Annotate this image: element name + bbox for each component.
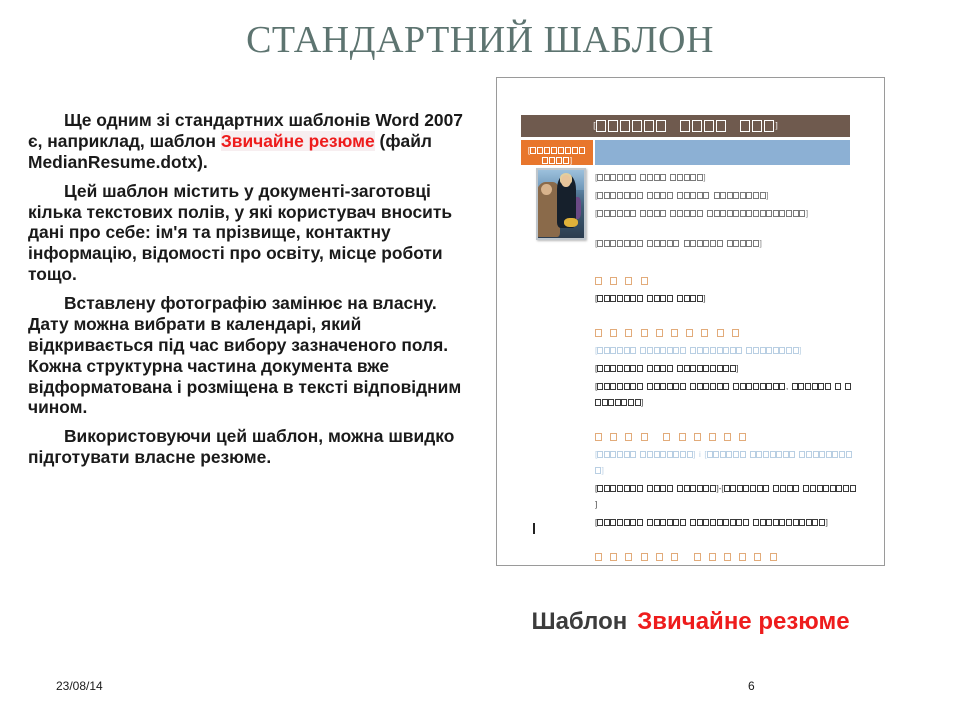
- resume-blue-bar: [595, 140, 850, 165]
- resume-section-3: []і[] []-[] []: [595, 429, 857, 531]
- resume-section-4: []: [595, 549, 857, 566]
- contact-line-2: []: [595, 188, 857, 204]
- resume-sections: [] [] [] [,]: [595, 273, 857, 566]
- document-page: [] [ ]: [497, 78, 884, 565]
- section-2-heading: [595, 325, 857, 341]
- footer-page-number: 6: [748, 679, 755, 693]
- resume-contact-label: [ ]: [521, 140, 593, 165]
- section-1-line-1: []: [595, 291, 857, 307]
- photo-head-secondary: [541, 184, 552, 196]
- paragraph-2: Цей шаблон містить у документі-заготовці…: [28, 181, 476, 285]
- resume-photo: [536, 168, 586, 240]
- photo-yellow-accent: [564, 218, 578, 228]
- body-text-column: Ще одним зі стандартних шаблонів Word 20…: [28, 110, 476, 468]
- resume-contact-details: [] [] [] []: [595, 170, 857, 252]
- resume-photo-image: [538, 170, 584, 238]
- paragraph-1: Ще одним зі стандартних шаблонів Word 20…: [28, 110, 476, 173]
- resume-section-1: []: [595, 273, 857, 307]
- section-gap-3: [595, 537, 857, 549]
- resume-section-2: [] [] [,]: [595, 325, 857, 411]
- resume-contact-label-line-2: ]: [521, 153, 593, 165]
- template-name-highlight: Звичайне резюме: [221, 131, 375, 151]
- section-4-heading: [595, 549, 857, 565]
- caption-label: Шаблон: [531, 608, 627, 635]
- footer-date: 23/08/14: [56, 679, 103, 693]
- caption-template-name: Звичайне резюме: [637, 608, 849, 635]
- paragraph-4: Використовуючи цей шаблон, можна швидко …: [28, 426, 476, 468]
- resume-name-banner: []: [521, 115, 850, 137]
- section-2-subline: []: [595, 343, 857, 359]
- section-3-subline: []і[]: [595, 447, 857, 479]
- section-2-line-1: []: [595, 361, 857, 377]
- page-title: СТАНДАРТНИЙ ШАБЛОН: [0, 18, 960, 62]
- paragraph-3: Вставлену фотографію замінює на власну. …: [28, 293, 476, 418]
- section-3-line-2: []: [595, 515, 857, 531]
- section-2-line-2: [,]: [595, 379, 857, 411]
- contact-line-4: []: [595, 236, 857, 252]
- section-3-heading: [595, 429, 857, 445]
- contact-line-3: []: [595, 206, 857, 222]
- section-1-heading: [595, 273, 857, 289]
- document-preview-frame: [] [ ]: [496, 77, 885, 566]
- section-3-line-1: []-[]: [595, 481, 857, 513]
- contact-line-1: []: [595, 170, 857, 186]
- image-caption: ШаблонЗвичайне резюме: [496, 608, 885, 636]
- document-text-cursor: [533, 523, 535, 534]
- section-gap-2: [595, 417, 857, 429]
- resume-name-placeholder: []: [521, 118, 850, 134]
- contact-gap: [595, 224, 857, 236]
- section-gap-1: [595, 313, 857, 325]
- photo-head-primary: [561, 175, 571, 187]
